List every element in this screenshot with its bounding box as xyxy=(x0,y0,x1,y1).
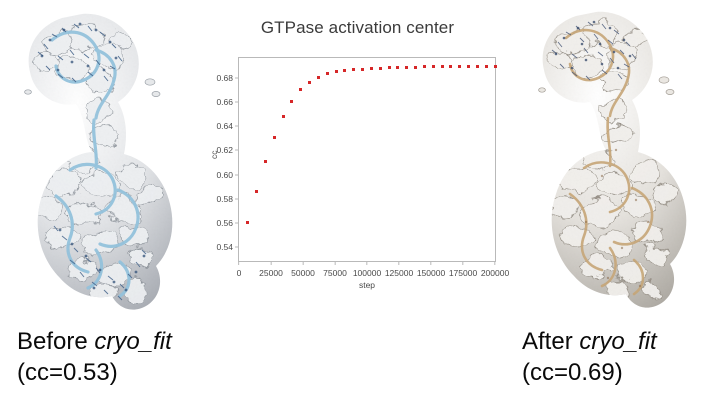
data-point xyxy=(299,88,302,91)
chart-title: GTPase activation center xyxy=(205,18,510,38)
data-point xyxy=(343,69,346,72)
structure-image-before xyxy=(0,0,205,320)
caption-after-program: cryo_fit xyxy=(579,328,656,355)
data-point xyxy=(273,136,276,139)
x-tick-label: 0 xyxy=(237,261,242,278)
scatter-series xyxy=(239,58,495,261)
y-tick-label: 0.54 xyxy=(216,242,239,252)
data-point xyxy=(423,65,426,68)
caption-before: Before cryo_fit (cc=0.53) xyxy=(17,326,172,388)
data-point xyxy=(432,65,435,68)
data-point xyxy=(290,100,293,103)
y-tick-label: 0.58 xyxy=(216,194,239,204)
x-tick-label: 100000 xyxy=(353,261,381,278)
data-point xyxy=(361,68,364,71)
y-tick-label: 0.66 xyxy=(216,97,239,107)
y-tick-label: 0.68 xyxy=(216,73,239,83)
x-tick-label: 50000 xyxy=(291,261,315,278)
data-point xyxy=(441,65,444,68)
data-point xyxy=(458,65,461,68)
y-tick-label: 0.64 xyxy=(216,121,239,131)
data-point xyxy=(282,115,285,118)
x-tick-label: 150000 xyxy=(417,261,445,278)
data-point xyxy=(494,65,497,68)
x-tick-label: 25000 xyxy=(259,261,283,278)
y-tick-label: 0.56 xyxy=(216,218,239,228)
data-point xyxy=(388,66,391,69)
data-point xyxy=(485,65,488,68)
data-point xyxy=(264,160,267,163)
y-tick-label: 0.60 xyxy=(216,170,239,180)
cc-vs-step-chart: GTPase activation center cc 0.540.560.58… xyxy=(205,8,510,304)
data-point xyxy=(352,68,355,71)
data-point xyxy=(379,67,382,70)
caption-after: After cryo_fit (cc=0.69) xyxy=(522,326,657,388)
x-tick-label: 200000 xyxy=(481,261,509,278)
plot-area: 0.540.560.580.600.620.640.660.6802500050… xyxy=(238,57,496,262)
cryo-em-density-after-svg xyxy=(516,0,720,320)
caption-before-program: cryo_fit xyxy=(94,328,171,355)
data-point xyxy=(396,66,399,69)
caption-before-prefix: Before xyxy=(17,328,94,355)
x-tick-label: 75000 xyxy=(323,261,347,278)
caption-before-value: (cc=0.53) xyxy=(17,357,172,388)
caption-after-prefix: After xyxy=(522,328,579,355)
x-tick-label: 125000 xyxy=(385,261,413,278)
data-point xyxy=(370,67,373,70)
data-point xyxy=(414,66,417,69)
data-point xyxy=(467,65,470,68)
data-point xyxy=(476,65,479,68)
data-point xyxy=(317,76,320,79)
cryo-em-density-before-svg xyxy=(0,0,205,320)
caption-after-value: (cc=0.69) xyxy=(522,357,657,388)
data-point xyxy=(405,66,408,69)
x-axis-label: step xyxy=(238,280,496,290)
data-point xyxy=(449,65,452,68)
y-tick-label: 0.62 xyxy=(216,145,239,155)
data-point xyxy=(308,81,311,84)
data-point xyxy=(326,72,329,75)
data-point xyxy=(335,70,338,73)
x-tick-label: 175000 xyxy=(449,261,477,278)
data-point xyxy=(255,190,258,193)
structure-image-after xyxy=(516,0,720,320)
data-point xyxy=(246,221,249,224)
